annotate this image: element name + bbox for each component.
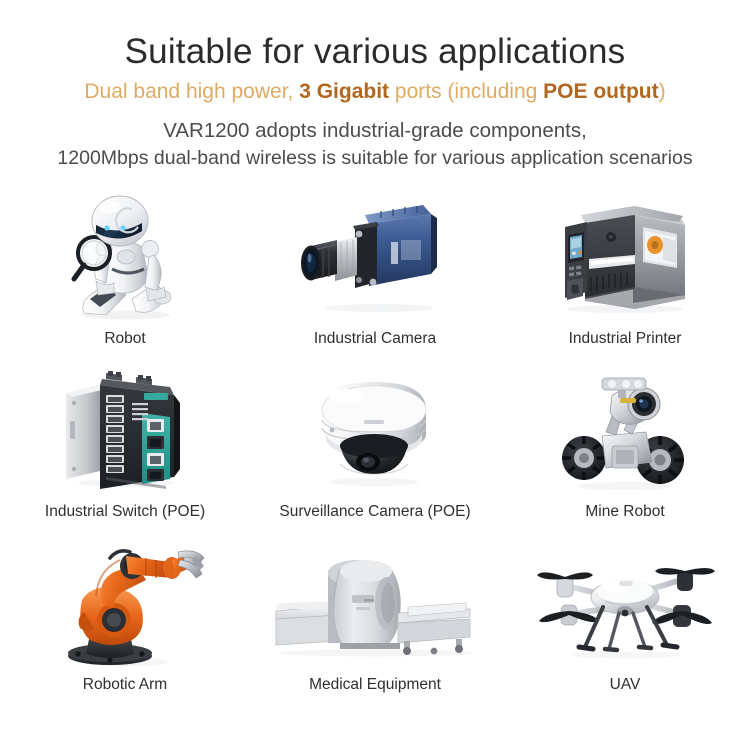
application-label: Robotic Arm bbox=[83, 676, 167, 703]
application-label: Medical Equipment bbox=[309, 676, 441, 703]
subtitle-part-5: ) bbox=[659, 80, 666, 103]
label-printer-icon bbox=[500, 184, 750, 330]
subtitle-part-2: 3 Gigabit bbox=[299, 80, 389, 103]
application-label: Industrial Printer bbox=[569, 330, 682, 357]
application-item-mine-robot: Mine Robot bbox=[500, 357, 750, 530]
subtitle-part-4: POE output bbox=[543, 80, 658, 103]
subtitle-part-3: ports (including bbox=[389, 80, 543, 103]
application-item-surveillance-camera: Surveillance Camera (POE) bbox=[250, 357, 500, 530]
application-item-robot: Robot bbox=[0, 184, 250, 357]
articulated-robot-arm-icon bbox=[0, 530, 250, 676]
application-item-robotic-arm: Robotic Arm bbox=[0, 530, 250, 703]
application-label: Industrial Camera bbox=[314, 330, 436, 357]
application-item-medical-equipment: Medical Equipment bbox=[250, 530, 500, 703]
ct-scanner-icon bbox=[250, 530, 500, 676]
description-line-1: VAR1200 adopts industrial-grade componen… bbox=[0, 117, 750, 145]
description-line-2: 1200Mbps dual-band wireless is suitable … bbox=[0, 145, 750, 172]
application-item-uav: UAV bbox=[500, 530, 750, 703]
din-rail-switch-icon bbox=[0, 357, 250, 503]
quadcopter-drone-icon bbox=[500, 530, 750, 676]
page-description: VAR1200 adopts industrial-grade componen… bbox=[0, 117, 750, 172]
application-label: Surveillance Camera (POE) bbox=[279, 503, 470, 530]
application-label: Robot bbox=[104, 330, 145, 357]
application-item-industrial-switch: Industrial Switch (POE) bbox=[0, 357, 250, 530]
product-feature-page: Suitable for various applications Dual b… bbox=[0, 0, 750, 750]
subtitle-part-1: Dual band high power, bbox=[84, 80, 299, 103]
dome-camera-icon bbox=[250, 357, 500, 503]
machine-vision-camera-icon bbox=[250, 184, 500, 330]
application-item-industrial-printer: Industrial Printer bbox=[500, 184, 750, 357]
page-header: Suitable for various applications Dual b… bbox=[0, 0, 750, 172]
page-subtitle: Dual band high power, 3 Gigabit ports (i… bbox=[0, 80, 750, 103]
application-grid: Robot bbox=[0, 184, 750, 703]
humanoid-robot-icon bbox=[0, 184, 250, 330]
page-title: Suitable for various applications bbox=[0, 34, 750, 71]
application-label: Mine Robot bbox=[585, 503, 664, 530]
tracked-inspection-robot-icon bbox=[500, 357, 750, 503]
application-label: UAV bbox=[610, 676, 641, 703]
application-item-industrial-camera: Industrial Camera bbox=[250, 184, 500, 357]
application-label: Industrial Switch (POE) bbox=[45, 503, 205, 530]
